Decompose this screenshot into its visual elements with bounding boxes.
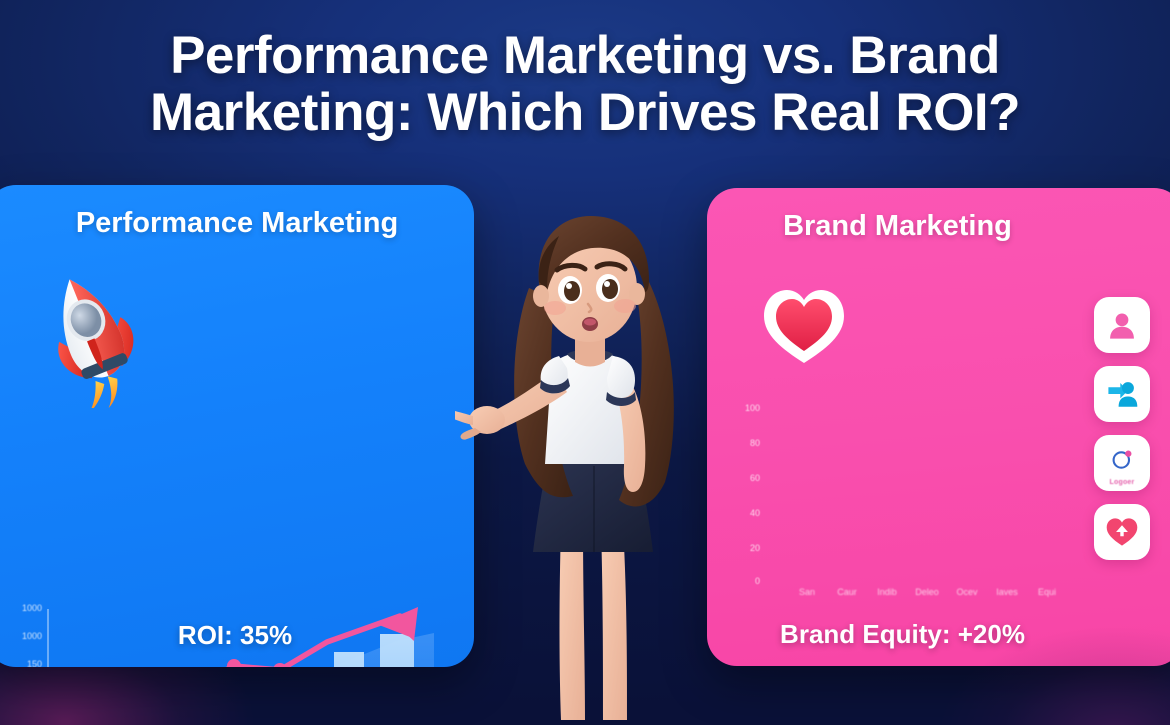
right-ytick-1: 80 [727,438,760,448]
user-profile-icon[interactable] [1094,297,1150,353]
right-card-title: Brand Marketing [707,210,1170,243]
right-ytick-2: 60 [727,473,760,483]
title-line-1: Performance Marketing vs. Brand [170,26,1000,85]
social-icon-rail[interactable]: Logoer [1094,297,1154,560]
right-ytick-4: 20 [727,543,760,553]
page-title: Performance Marketing vs. Brand Marketin… [0,28,1170,141]
left-ytick-2: 150 [4,659,42,667]
right-xtick-6: Equi [1038,587,1056,597]
right-ytick-3: 40 [727,508,760,518]
brand-logo-label: Logoer [1094,479,1150,486]
right-ytick-0: 100 [727,403,760,413]
left-card-title: Performance Marketing [0,207,474,240]
left-card-footer: ROI: 35% [0,620,474,651]
right-xtick-2: Indib [877,587,897,597]
right-xtick-1: Caur [837,587,857,597]
share-user-icon[interactable] [1094,366,1150,422]
heart-like-icon[interactable] [1094,504,1150,560]
heart-icon [760,285,848,365]
left-ytick-0: 1000 [4,603,42,613]
right-card-footer: Brand Equity: +20% [707,619,1170,650]
3d-girl-pointing-character [455,196,723,725]
right-xtick-4: Ocev [956,587,977,597]
right-xtick-3: Deleo [915,587,939,597]
right-xtick-5: Iaves [996,587,1018,597]
pointing-hand [455,406,505,440]
right-xtick-0: San [799,587,815,597]
right-ytick-5: 0 [727,576,760,586]
title-line-2: Marketing: Which Drives Real ROI? [70,85,1100,142]
performance-marketing-card[interactable]: Performance Marketing [0,185,474,667]
brand-logo-icon[interactable]: Logoer [1094,435,1150,491]
rocket-icon [34,268,146,408]
poster-canvas: Performance Marketing vs. Brand Marketin… [0,0,1170,725]
